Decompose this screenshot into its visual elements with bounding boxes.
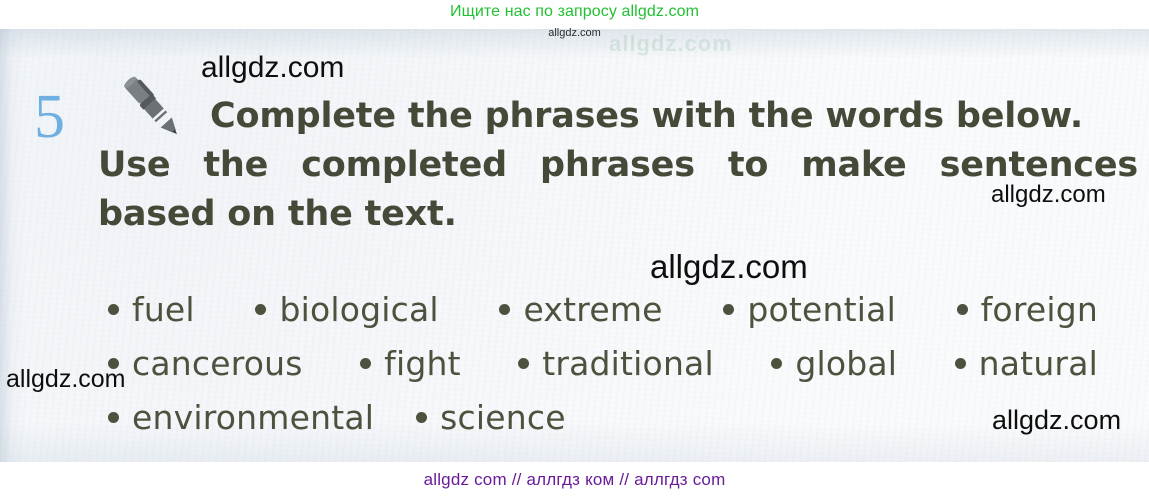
word-bank: fuel biological extreme potential foreig…	[108, 283, 1098, 445]
word-item: fuel	[108, 283, 195, 337]
top-promo-bar: Ищите нас по запросу allgdz.com	[0, 0, 1149, 29]
bullet-icon	[108, 304, 119, 315]
word-label: traditional	[542, 337, 714, 391]
word-item: science	[416, 391, 566, 445]
page-root: Ищите нас по запросу allgdz.com allgdz.c…	[0, 0, 1149, 497]
word-item: potential	[723, 283, 896, 337]
bullet-icon	[518, 358, 529, 369]
word-label: natural	[979, 337, 1098, 391]
bullet-icon	[108, 412, 119, 423]
scan-left-shadow	[0, 29, 26, 462]
word-label: science	[440, 391, 566, 445]
promo-headline: Ищите нас по запросу allgdz.com	[0, 3, 1149, 21]
watermark-overlay: allgdz.com	[992, 405, 1121, 436]
bullet-icon	[957, 304, 968, 315]
word-item: global	[771, 337, 897, 391]
word-label: environmental	[132, 391, 374, 445]
word-item: environmental	[108, 391, 374, 445]
word-bank-row: fuel biological extreme potential foreig…	[108, 283, 1098, 337]
word-item: biological	[255, 283, 438, 337]
word-label: foreign	[981, 283, 1098, 337]
word-label: global	[795, 337, 897, 391]
word-bank-row: cancerous fight traditional global natur…	[108, 337, 1098, 391]
exercise-number: 5	[34, 86, 65, 148]
word-label: fuel	[132, 283, 195, 337]
word-item: fight	[360, 337, 461, 391]
pen-icon	[108, 68, 190, 146]
word-item: natural	[955, 337, 1098, 391]
word-label: potential	[747, 283, 896, 337]
instruction-line-2: Use the completed phrases to make senten…	[98, 141, 1138, 190]
word-item: extreme	[499, 283, 662, 337]
watermark-overlay: allgdz.com	[6, 365, 126, 394]
word-item: foreign	[957, 283, 1098, 337]
instruction-line-3: based on the text.	[98, 190, 1138, 239]
word-item: cancerous	[108, 337, 303, 391]
word-label: cancerous	[132, 337, 303, 391]
bullet-icon	[499, 304, 510, 315]
bullet-icon	[255, 304, 266, 315]
bullet-icon	[771, 358, 782, 369]
watermark-overlay: allgdz.com	[201, 51, 344, 85]
bullet-icon	[955, 358, 966, 369]
promo-subtext: allgdz.com	[0, 27, 1149, 39]
bullet-icon	[360, 358, 371, 369]
bullet-icon	[723, 304, 734, 315]
word-label: biological	[279, 283, 438, 337]
bottom-promo-bar: allgdz com // аллгдз ком // аллгдз com	[0, 462, 1149, 497]
word-label: extreme	[523, 283, 662, 337]
watermark-overlay: allgdz.com	[991, 181, 1106, 209]
word-bank-row: environmental science	[108, 391, 1098, 445]
word-label: fight	[384, 337, 461, 391]
exercise-instruction: Complete the phrases with the words belo…	[98, 92, 1138, 239]
bullet-icon	[416, 412, 427, 423]
footer-text: allgdz com // аллгдз ком // аллгдз com	[0, 470, 1149, 490]
word-item: traditional	[518, 337, 714, 391]
watermark-overlay: allgdz.com	[650, 248, 808, 286]
instruction-line-1: Complete the phrases with the words belo…	[98, 92, 1138, 141]
